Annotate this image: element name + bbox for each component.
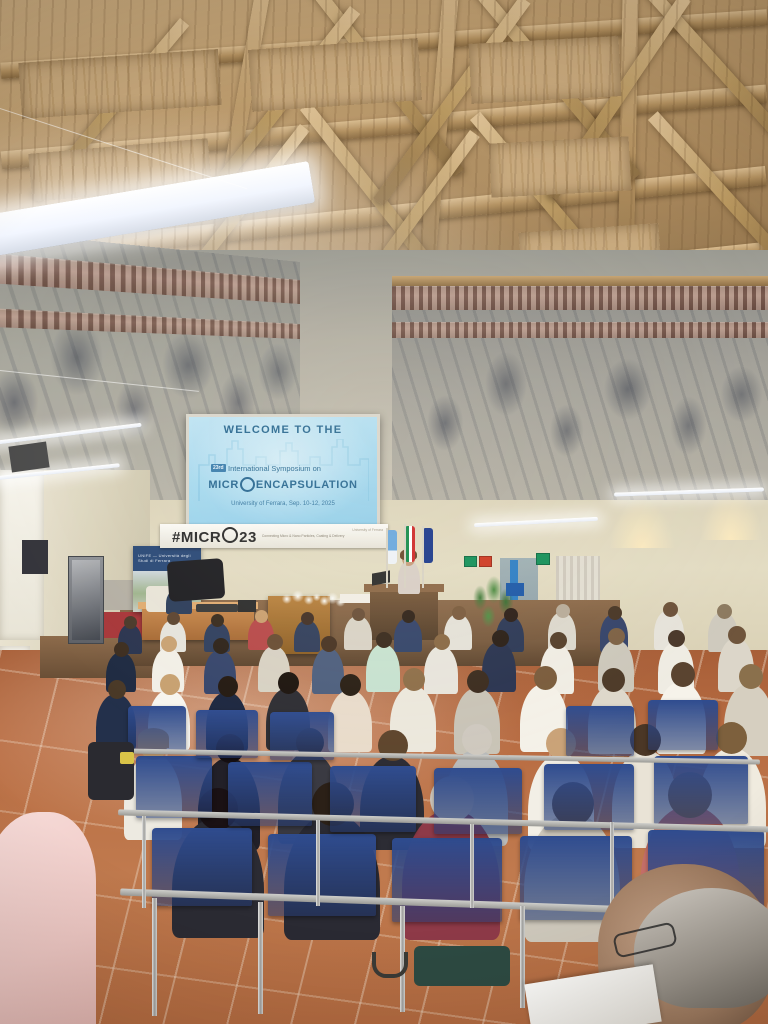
chair-leg [142,816,146,908]
chair-leg [258,902,263,1014]
foreground-person-pink-shirt [0,812,96,1024]
dark-bag-on-ledge [167,558,226,602]
chair-leg [470,824,474,908]
chair-leg [152,898,157,1016]
chair-leg [610,822,614,906]
chair[interactable] [136,756,212,818]
chair-leg [316,820,320,906]
chair[interactable] [654,756,748,824]
luggage-tag [120,752,134,764]
umbrella-handle [372,952,408,978]
green-bag-on-floor [414,946,510,986]
conference-hall-photo: UNIFE — Università degli Studi di Ferrar… [0,0,768,1024]
chair[interactable] [648,700,718,750]
chair[interactable] [566,706,634,756]
chair[interactable] [392,838,502,922]
backpack-on-floor [88,742,134,800]
chair[interactable] [128,706,186,752]
chair-leg [520,906,525,1008]
